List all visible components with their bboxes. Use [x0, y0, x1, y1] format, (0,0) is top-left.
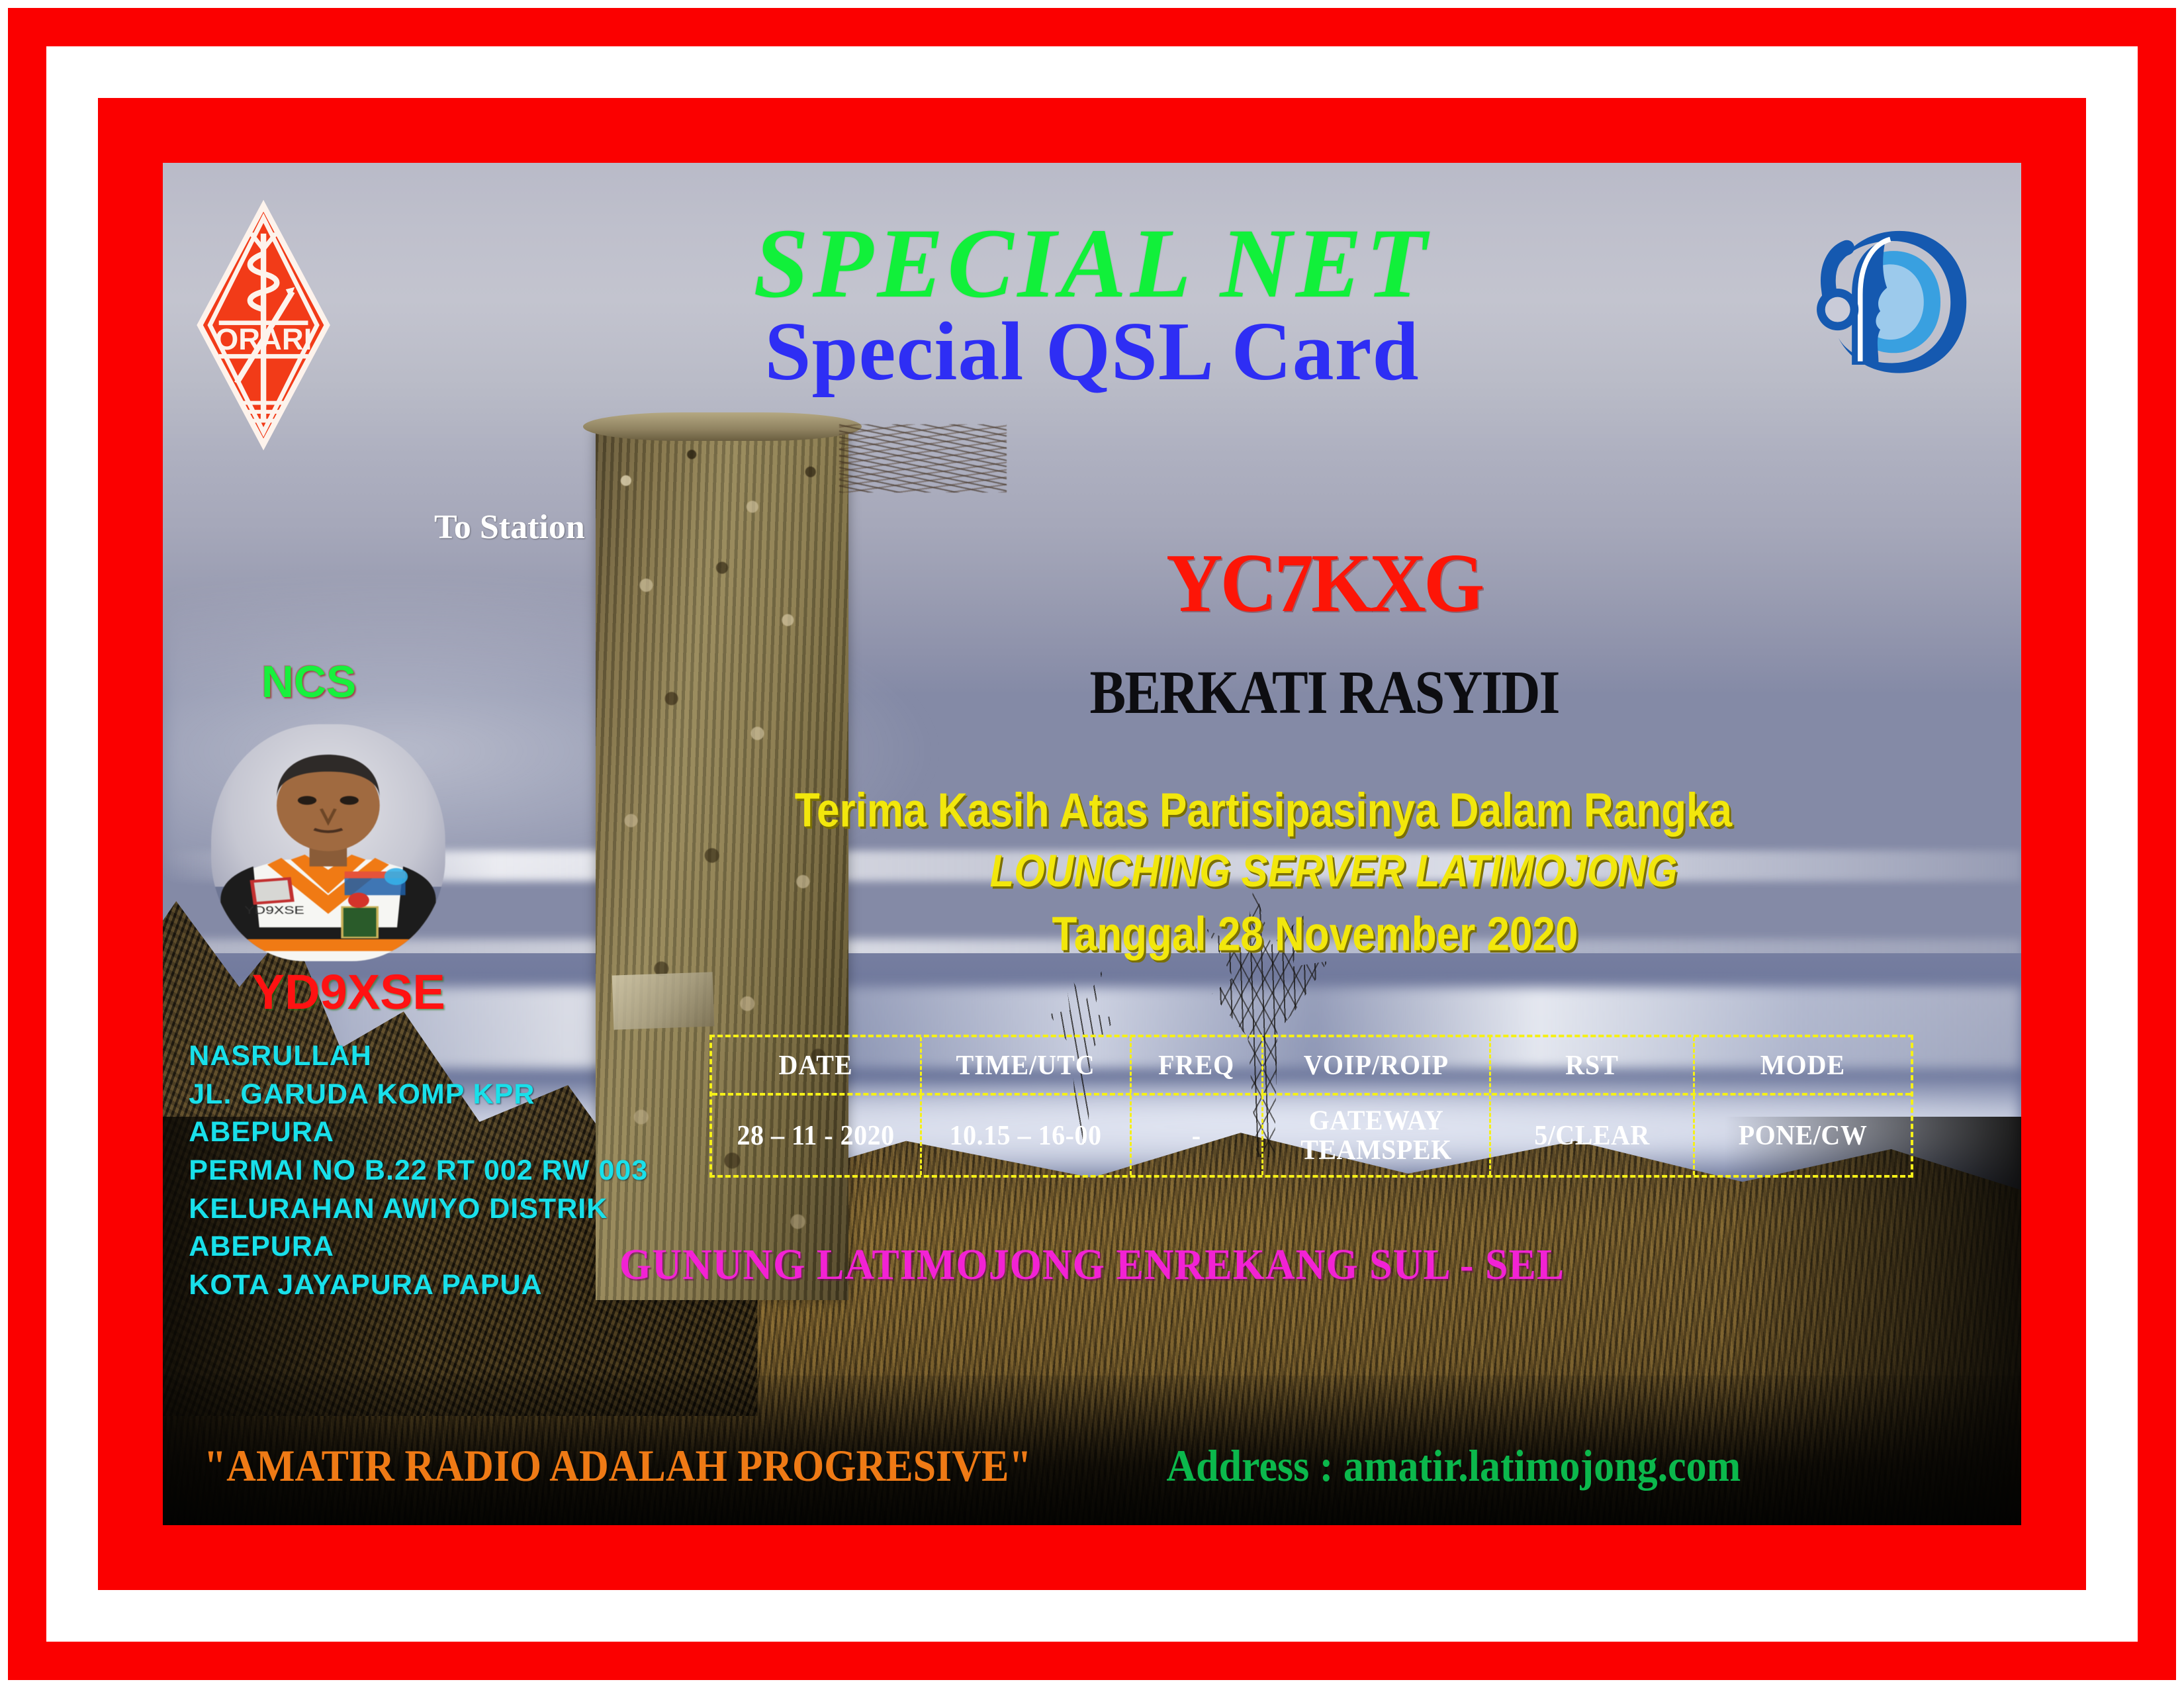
operator-portrait-photo: YD9XSE [211, 724, 445, 961]
event-date-line: Tanggal 28 November 2020 [795, 907, 1835, 961]
event-name-line: LOUNCHING SERVER LATIMOJONG [795, 845, 1873, 897]
table-header-text: TIME/UTC [956, 1051, 1095, 1080]
address-line: JL. GARUDA KOMP KPR [189, 1076, 648, 1114]
svg-text:YD9XSE: YD9XSE [244, 904, 304, 916]
table-header-text: VOIP/ROIP [1304, 1051, 1449, 1080]
recipient-operator-name: BERKATI RASYIDI [906, 657, 1743, 728]
address-line: KELURAHAN AWIYO DISTRIK [189, 1190, 648, 1229]
card-photo-background: ORARI [163, 163, 2021, 1525]
table-header-mode: MODE [1695, 1037, 1911, 1092]
table-cell-date: 28 – 11 - 2020 [712, 1096, 922, 1176]
stone-monument-cap [583, 412, 862, 441]
address-line: PERMAI NO B.22 RT 002 RW 003 [189, 1152, 648, 1190]
white-border-gap: ORARI [46, 46, 2138, 1642]
table-cell-rst: 5/CLEAR [1491, 1096, 1695, 1176]
page-title-special-net: SPECIAL NET [163, 207, 2021, 320]
table-header-text: FREQ [1158, 1051, 1234, 1080]
table-cell-text: 10.15 – 16-00 [950, 1121, 1102, 1150]
table-row: 28 – 11 - 2020 10.15 – 16-00 - GATEWAY T… [712, 1096, 1911, 1176]
address-line: ABEPURA [189, 1113, 648, 1152]
footer-web-address: Address : amatir.latimojong.com [1166, 1440, 1741, 1492]
table-header-rst: RST [1491, 1037, 1695, 1092]
table-header-date: DATE [712, 1037, 922, 1092]
table-header-text: DATE [778, 1051, 852, 1080]
table-cell-text: GATEWAY TEAMSPEK [1266, 1105, 1486, 1164]
table-cell-text: 5/CLEAR [1534, 1121, 1650, 1150]
table-header-row: DATE TIME/UTC FREQ VOIP/ROIP [712, 1037, 1911, 1095]
ncs-label: NCS [261, 656, 357, 708]
table-cell-text: PONE/CW [1739, 1121, 1868, 1150]
table-header-freq: FREQ [1132, 1037, 1263, 1092]
inner-red-border: ORARI [98, 98, 2086, 1590]
table-header-time: TIME/UTC [922, 1037, 1132, 1092]
table-cell-freq: - [1132, 1096, 1263, 1176]
table-header-voip-roip: VOIP/ROIP [1263, 1037, 1491, 1092]
event-location-line: GUNUNG LATIMOJONG ENREKANG SUL - SEL [163, 1241, 2021, 1290]
outer-red-border: ORARI [8, 8, 2176, 1680]
table-cell-text: 28 – 11 - 2020 [737, 1121, 894, 1150]
table-cell-text: - [1192, 1121, 1201, 1150]
recipient-callsign: YC7KXG [931, 536, 1717, 632]
table-header-text: MODE [1760, 1051, 1845, 1080]
to-station-label: To Station [434, 508, 585, 547]
address-line: NASRULLAH [189, 1037, 648, 1076]
table-cell-voip-roip: GATEWAY TEAMSPEK [1263, 1096, 1491, 1176]
monument-plaque [612, 972, 713, 1030]
table-header-text: RST [1565, 1051, 1619, 1080]
table-cell-mode: PONE/CW [1695, 1096, 1911, 1176]
footer-motto: "AMATIR RADIO ADALAH PROGRESIVE" [204, 1440, 1032, 1492]
ncs-callsign: YD9XSE [218, 964, 478, 1020]
thanks-line-1: Terima Kasih Atas Partisipasinya Dalam R… [795, 783, 1947, 837]
qsl-card: ORARI [0, 0, 2184, 1688]
table-cell-time: 10.15 – 16-00 [922, 1096, 1132, 1176]
page-subtitle-special-qsl-card: Special QSL Card [163, 305, 2021, 400]
qso-details-table: DATE TIME/UTC FREQ VOIP/ROIP [709, 1035, 1914, 1178]
monument-grass-wisp [839, 424, 1007, 492]
